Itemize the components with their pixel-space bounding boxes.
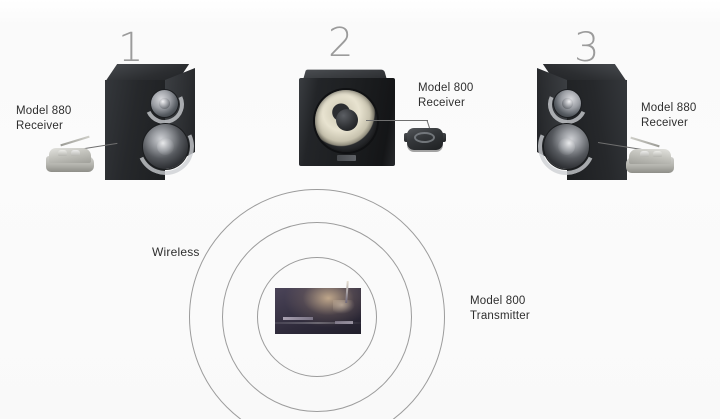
model-880-receiver-left — [44, 138, 100, 174]
diagram-canvas: 1 Model 880 Receiver 2 Model 800 Receive… — [0, 0, 720, 419]
receiver-antenna-icon — [630, 137, 659, 148]
bookshelf-speaker-3 — [535, 64, 627, 184]
label-line-1: Model 800 — [418, 81, 474, 96]
speaker-number-1: 1 — [118, 28, 143, 68]
label-model-880-receiver-left: Model 880 Receiver — [16, 104, 72, 134]
transmitter-highlight — [333, 300, 355, 314]
receiver-top-ring-icon — [414, 132, 435, 143]
label-line-2: Receiver — [418, 96, 474, 111]
label-model-800-receiver-center: Model 800 Receiver — [418, 81, 474, 111]
model-800-transmitter — [275, 288, 361, 334]
label-wireless: Wireless — [152, 245, 200, 260]
speaker-number-3: 3 — [574, 28, 599, 68]
transmitter-logo — [283, 317, 313, 320]
model-800-receiver-center — [404, 124, 446, 154]
receiver-body — [49, 148, 91, 163]
label-line-2: Receiver — [641, 116, 697, 131]
subwoofer-speaker-2 — [299, 68, 395, 168]
subwoofer-badge — [337, 155, 356, 161]
leader-line-center-receiver — [366, 120, 428, 121]
label-line-2: Transmitter — [470, 309, 530, 324]
model-880-receiver-right — [620, 139, 676, 175]
transmitter-model-text — [335, 321, 353, 324]
label-line-1: Model 880 — [641, 101, 697, 116]
label-model-800-transmitter: Model 800 Transmitter — [470, 294, 530, 324]
receiver-knob-right — [640, 151, 649, 157]
label-line-1: Wireless — [152, 245, 200, 260]
label-model-880-receiver-right: Model 880 Receiver — [641, 101, 697, 131]
label-line-1: Model 800 — [470, 294, 530, 309]
receiver-knob-left — [58, 150, 67, 156]
receiver-body — [629, 149, 671, 164]
receiver-knob-right — [71, 150, 80, 156]
label-line-1: Model 880 — [16, 104, 72, 119]
bookshelf-speaker-1 — [105, 64, 197, 184]
label-line-2: Receiver — [16, 119, 72, 134]
receiver-antenna-icon — [60, 136, 89, 147]
speaker-number-2: 2 — [328, 23, 353, 63]
receiver-knob-left — [653, 151, 662, 157]
